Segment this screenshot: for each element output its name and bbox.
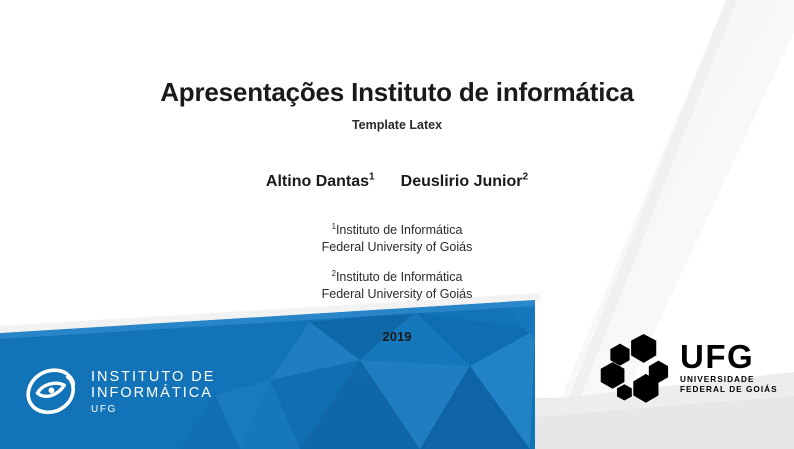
title-block: Apresentações Instituto de informática T… bbox=[0, 78, 794, 132]
author-1-marker: 1 bbox=[369, 172, 375, 183]
ufg-sub-line2: FEDERAL DE GOIÁS bbox=[680, 385, 778, 395]
page-title: Apresentações Instituto de informática bbox=[0, 78, 794, 107]
affiliation-1-line1: 1Instituto de Informática bbox=[0, 222, 794, 239]
author-1-name: Altino Dantas bbox=[266, 173, 369, 190]
author-2: Deuslirio Junior2 bbox=[401, 173, 528, 191]
institute-logo: INSTITUTO DE INFORMÁTICA UFG bbox=[24, 364, 215, 420]
eye-swirl-icon bbox=[24, 364, 80, 420]
affiliation-1-institute: Instituto de Informática bbox=[336, 223, 462, 237]
ufg-logo: UFG UNIVERSIDADE FEDERAL DE GOIÁS bbox=[600, 331, 778, 405]
title-slide: Apresentações Instituto de informática T… bbox=[0, 0, 794, 449]
affiliation-1: 1Instituto de Informática Federal Univer… bbox=[0, 222, 794, 255]
author-2-name: Deuslirio Junior bbox=[401, 173, 523, 190]
eye-pupil bbox=[49, 387, 55, 393]
institute-logo-line1: INSTITUTO DE bbox=[91, 369, 215, 385]
affiliation-2: 2Instituto de Informática Federal Univer… bbox=[0, 269, 794, 302]
author-1: Altino Dantas1 bbox=[266, 173, 375, 191]
affiliation-1-line2: Federal University of Goiás bbox=[0, 239, 794, 256]
institute-logo-line2: INFORMÁTICA bbox=[91, 385, 215, 401]
affiliation-2-line2: Federal University of Goiás bbox=[0, 286, 794, 303]
institute-logo-text: INSTITUTO DE INFORMÁTICA UFG bbox=[91, 369, 215, 415]
hexagon-cluster-icon bbox=[600, 331, 674, 405]
ufg-sub-line1: UNIVERSIDADE bbox=[680, 375, 778, 385]
institute-logo-line3: UFG bbox=[91, 404, 215, 415]
affiliation-2-line1: 2Instituto de Informática bbox=[0, 269, 794, 286]
page-subtitle: Template Latex bbox=[0, 118, 794, 132]
ufg-logo-text: UFG UNIVERSIDADE FEDERAL DE GOIÁS bbox=[680, 342, 778, 395]
author-list: Altino Dantas1Deuslirio Junior2 bbox=[0, 173, 794, 191]
affiliation-list: 1Instituto de Informática Federal Univer… bbox=[0, 222, 794, 316]
affiliation-2-institute: Instituto de Informática bbox=[336, 270, 462, 284]
ufg-acronym: UFG bbox=[680, 342, 778, 372]
author-2-marker: 2 bbox=[522, 172, 528, 183]
